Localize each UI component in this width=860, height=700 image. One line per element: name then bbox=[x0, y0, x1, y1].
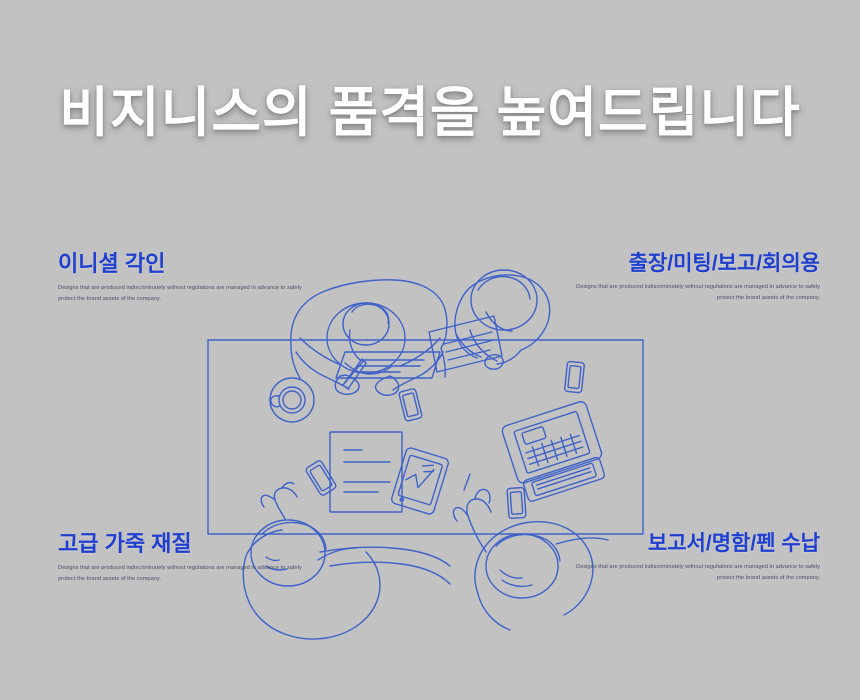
feature-heading: 출장/미팅/보고/회의용 bbox=[570, 252, 820, 275]
tablet-with-chart bbox=[390, 447, 449, 515]
smartphone bbox=[305, 460, 337, 497]
smartphone bbox=[399, 388, 423, 421]
feature-body: Designs that are produced indiscriminate… bbox=[58, 283, 308, 305]
feature-heading: 보고서/명함/펜 수납 bbox=[570, 532, 820, 555]
coffee-cup bbox=[270, 378, 314, 422]
person-top-writing bbox=[291, 280, 447, 395]
promo-banner: 비지니스의 품격을 높여드립니다 이니셜 각인 Designs that are… bbox=[0, 0, 860, 700]
smartphone bbox=[564, 361, 584, 393]
feature-bottom-left: 고급 가죽 재질 Designs that are produced indis… bbox=[58, 532, 308, 585]
feature-heading: 이니셜 각인 bbox=[58, 252, 308, 276]
feature-body: Designs that are produced indiscriminate… bbox=[570, 562, 820, 584]
feature-heading: 고급 가죽 재질 bbox=[58, 532, 308, 556]
feature-body: Designs that are produced indiscriminate… bbox=[570, 282, 820, 304]
conference-table bbox=[208, 340, 643, 534]
feature-top-left: 이니셜 각인 Designs that are produced indiscr… bbox=[58, 252, 308, 305]
smartphone bbox=[507, 487, 526, 518]
feature-top-right: 출장/미팅/보고/회의용 Designs that are produced i… bbox=[570, 252, 820, 304]
feature-bottom-right: 보고서/명함/펜 수납 Designs that are produced in… bbox=[570, 532, 820, 584]
pen bbox=[464, 474, 470, 490]
page-title: 비지니스의 품격을 높여드립니다 bbox=[0, 82, 860, 144]
feature-body: Designs that are produced indiscriminate… bbox=[58, 563, 308, 585]
